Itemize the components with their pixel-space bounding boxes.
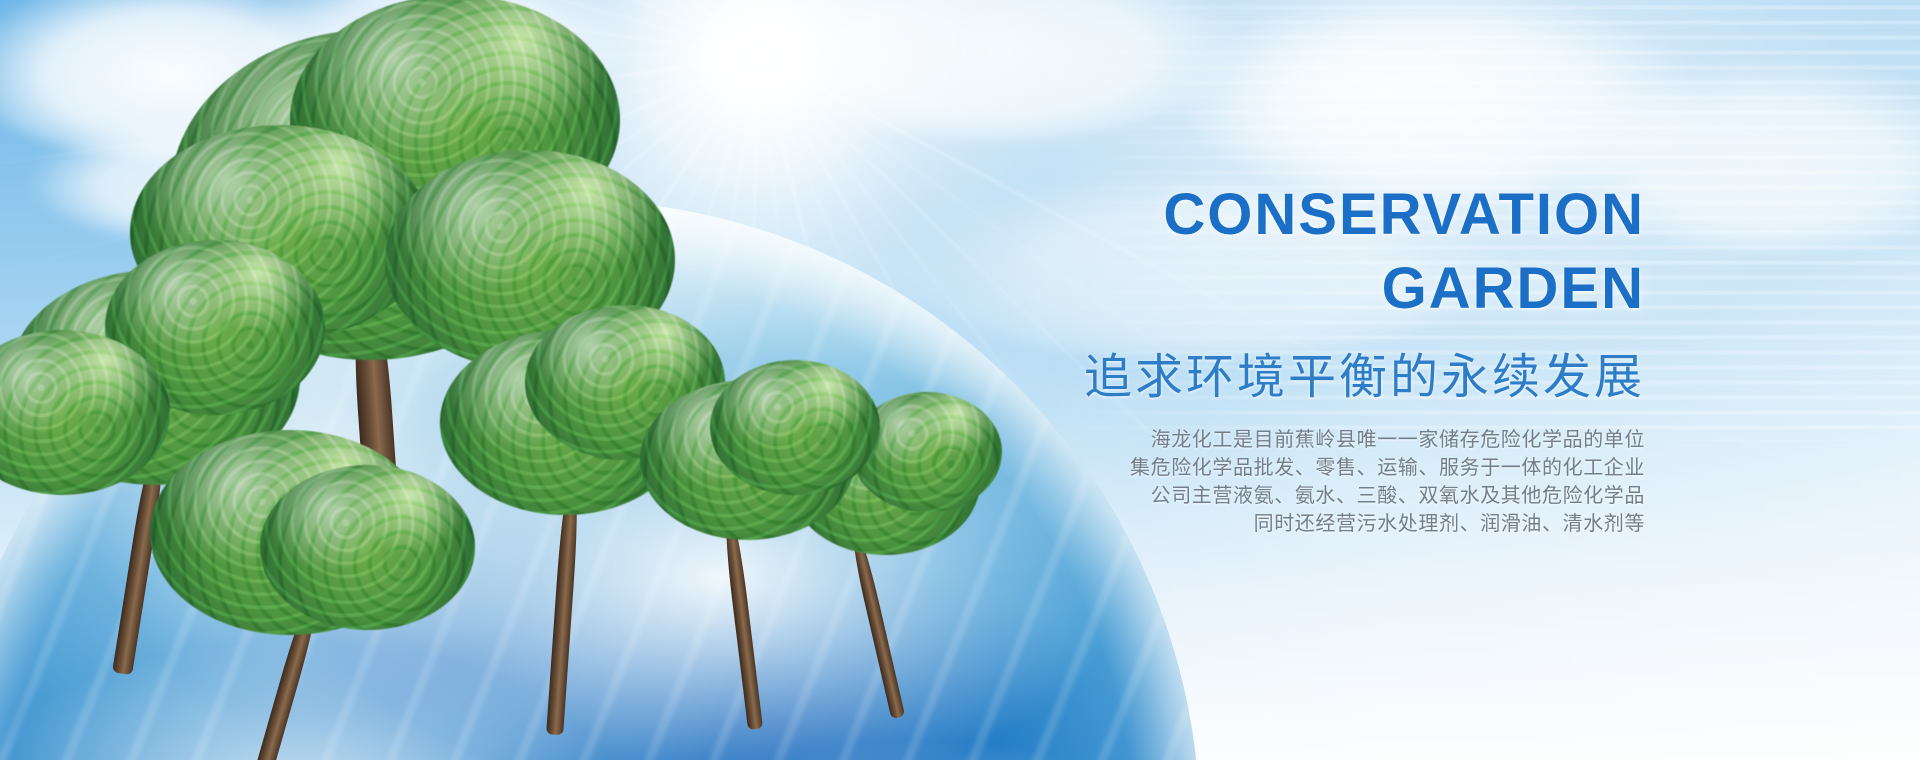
headline-cn: 追求环境平衡的永续发展	[885, 348, 1645, 408]
headline-en-line-1: CONSERVATION	[885, 178, 1645, 252]
headline-en-line-2: GARDEN	[885, 252, 1645, 326]
description-block: 海龙化工是目前蕉岭县唯一一家储存危险化学品的单位 集危险化学品批发、零售、运输、…	[885, 426, 1645, 538]
description-line: 海龙化工是目前蕉岭县唯一一家储存危险化学品的单位	[885, 426, 1645, 454]
description-line: 公司主营液氨、氨水、三酸、双氧水及其他危险化学品	[885, 482, 1645, 510]
banner-copy: CONSERVATION GARDEN 追求环境平衡的永续发展 海龙化工是目前蕉…	[885, 178, 1645, 538]
hero-banner: CONSERVATION GARDEN 追求环境平衡的永续发展 海龙化工是目前蕉…	[0, 0, 1920, 760]
description-line: 同时还经营污水处理剂、润滑油、清水剂等	[885, 510, 1645, 538]
description-line: 集危险化学品批发、零售、运输、服务于一体的化工企业	[885, 454, 1645, 482]
